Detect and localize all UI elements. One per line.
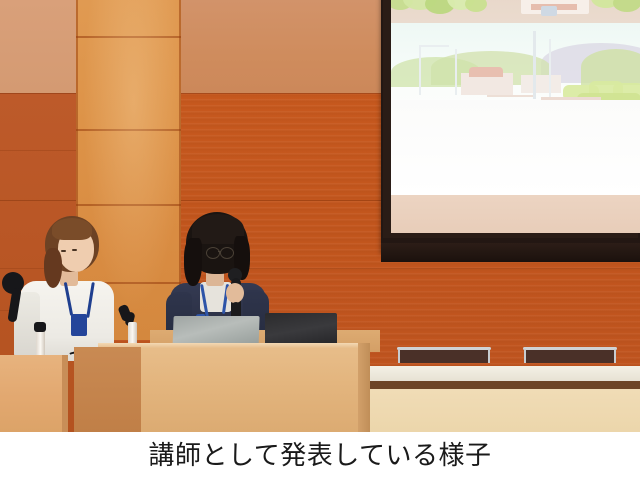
back-desk-front-panel (367, 389, 640, 432)
wall-upper-left-tan (0, 0, 76, 93)
presenter-right-glasses-bridge (218, 251, 221, 252)
presenter-right-glasses-right-lens (220, 247, 234, 259)
projected-bottom-band (391, 195, 640, 233)
podium-left (0, 355, 68, 432)
podium-side-dark (74, 347, 141, 432)
presenter-left-eye-right (72, 249, 77, 251)
presenter-left-badge (71, 314, 87, 336)
microphone-left-stand-top (34, 322, 46, 332)
podium-main-right-edge (358, 343, 370, 432)
chair-leg-2b (614, 349, 616, 363)
projector-screen-surface (391, 0, 640, 233)
laptop-black (265, 313, 337, 347)
presenter-left-fringe (52, 218, 92, 240)
projected-top-strip (391, 0, 640, 23)
chair-back-2 (525, 349, 615, 363)
chair-frame-2 (523, 347, 617, 350)
back-desk-top (367, 366, 640, 382)
caption-text: 講師として発表している様子 (149, 443, 492, 469)
chair-frame-1 (397, 347, 491, 350)
presentation-photo (0, 0, 640, 432)
presenter-left-eye-left (61, 250, 66, 252)
chair-back-1 (399, 349, 489, 363)
projector-screen-bottom-bar (381, 243, 640, 262)
presenter-left-ponytail (44, 248, 62, 288)
presenter-right-hair-side-left (184, 238, 202, 286)
screenshot-root: 講師として発表している様子 (0, 0, 640, 480)
presenter-right-hand (226, 283, 244, 303)
chair-leg-1a (398, 349, 400, 363)
wall-seam-2b (0, 200, 76, 201)
chair-leg-2a (524, 349, 526, 363)
podium-left-edge (62, 355, 68, 432)
chair-leg-1b (488, 349, 490, 363)
wall-seam-left-1 (0, 150, 76, 151)
presenter-right-glasses-left-lens (206, 247, 220, 259)
caption-bar: 講師として発表している様子 (0, 432, 640, 480)
projected-road-scene (391, 23, 640, 195)
